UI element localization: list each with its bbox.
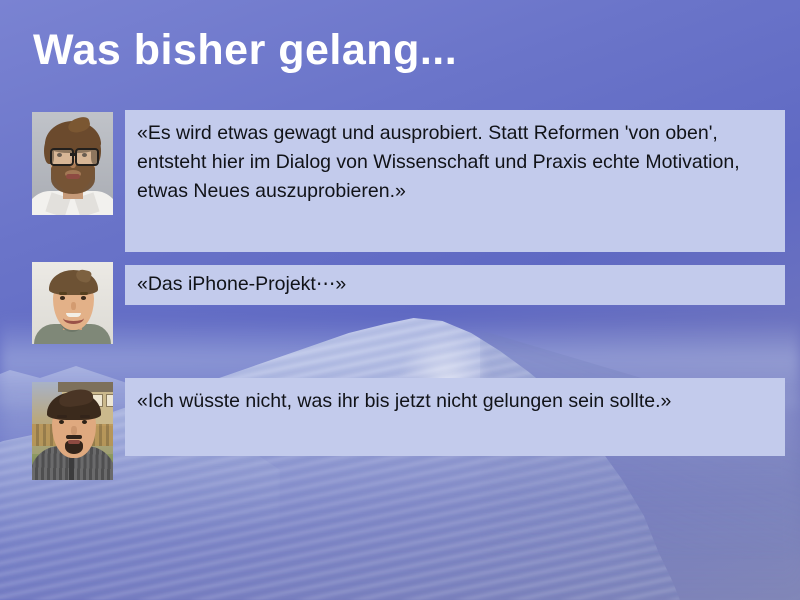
quote-box: «Es wird etwas gewagt und ausprobiert. S… bbox=[125, 110, 785, 252]
avatar-man-with-goatee bbox=[32, 382, 113, 480]
avatar bbox=[32, 112, 113, 215]
avatar-eyebrow-right bbox=[80, 415, 90, 418]
avatar-eye-left bbox=[60, 296, 65, 300]
avatar-nose bbox=[71, 302, 76, 310]
avatar-moustache bbox=[66, 435, 82, 439]
avatar-teeth bbox=[66, 313, 81, 317]
avatar-background-window-right bbox=[106, 394, 113, 407]
avatar-eyeglass-lens-left bbox=[50, 148, 74, 166]
avatar-nose bbox=[71, 426, 77, 435]
avatar-mouth bbox=[66, 174, 80, 179]
page-title: Was bisher gelang... bbox=[33, 28, 457, 73]
avatar-eye-right bbox=[82, 420, 87, 424]
avatar-eyebrow-left bbox=[59, 292, 67, 295]
avatar-bearded-man-with-glasses bbox=[32, 112, 113, 215]
avatar-eyebrow-right bbox=[80, 292, 88, 295]
quote-box: «Ich wüsste nicht, was ihr bis jetzt nic… bbox=[125, 378, 785, 456]
presentation-slide: Was bisher gelang... «Es wird etwas gewa… bbox=[0, 0, 800, 600]
avatar bbox=[32, 262, 113, 344]
avatar-eye-left bbox=[59, 420, 64, 424]
avatar-beard bbox=[51, 164, 95, 194]
avatar-mouth bbox=[68, 440, 80, 444]
avatar-eyeglass-lens-right bbox=[75, 148, 99, 166]
avatar-eyeglass-bridge bbox=[70, 153, 75, 156]
avatar-smiling-man-short-hair bbox=[32, 262, 113, 344]
avatar-eye-right bbox=[81, 296, 86, 300]
quote-box: «Das iPhone-Projekt⋯» bbox=[125, 265, 785, 305]
avatar bbox=[32, 382, 113, 480]
avatar-eyebrow-left bbox=[57, 415, 67, 418]
